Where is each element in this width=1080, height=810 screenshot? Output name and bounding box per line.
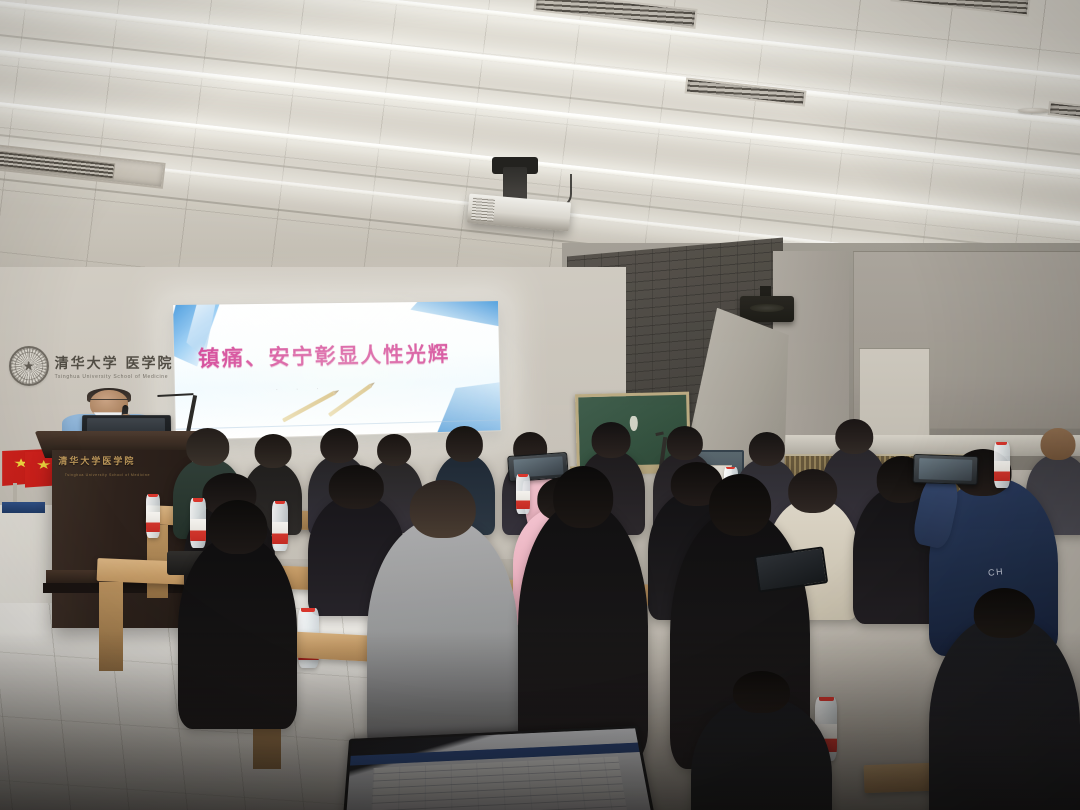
audience-head (749, 432, 785, 466)
audience-head (733, 671, 789, 713)
audience-head (329, 465, 383, 509)
audience-head (410, 480, 477, 538)
audience-head (836, 419, 873, 455)
audience-head (667, 426, 703, 460)
audience-head (377, 434, 411, 466)
audience-head (1041, 428, 1076, 460)
bottle-label (190, 519, 206, 541)
slide-surface: 镇痛、安宁彰显人性光辉 · · · (173, 301, 501, 440)
glasses-icon (90, 399, 128, 404)
slide-subtitle: · · · (275, 382, 468, 394)
tsinghua-logo: 清华大学 医学院 Tsinghua University School of M… (9, 340, 176, 392)
logo-english-name: Tsinghua University School of Medicine (55, 374, 174, 380)
loudspeaker-icon (740, 296, 794, 322)
audience-head (208, 500, 267, 554)
audience-head (186, 428, 230, 465)
audience-head (320, 428, 358, 464)
audience-head (553, 466, 613, 528)
water-bottle-icon (272, 501, 288, 551)
lecture-desk-leg (99, 582, 123, 671)
audience-member (518, 502, 648, 761)
flag-base (2, 502, 45, 513)
slide-graphic-pencil (282, 391, 336, 423)
water-bottle-icon (146, 494, 160, 538)
audience-head (446, 426, 482, 462)
bottle-label (994, 461, 1010, 481)
audience-head (974, 588, 1034, 638)
chalk-mark (629, 416, 637, 432)
tsinghua-seal-icon (9, 346, 49, 386)
star-icon (37, 460, 51, 470)
water-bottle-icon (516, 474, 530, 515)
audience-head (788, 469, 838, 513)
audience-member (178, 535, 297, 729)
logo-text: 清华大学 医学院 Tsinghua University School of M… (55, 353, 174, 380)
logo-chinese-name: 清华大学 医学院 (55, 353, 174, 373)
open-laptop-icon (341, 726, 658, 810)
jacket-lettering: CH (988, 566, 1005, 578)
star-icon (23, 361, 34, 372)
lecture-hall-photo: 镇痛、安宁彰显人性光辉 · · · 清华大学 医学院 Tsinghua Univ… (0, 0, 1080, 810)
bottle-label (272, 522, 288, 544)
bottle-label (516, 491, 530, 509)
smartphone-icon (912, 454, 978, 485)
slide-title: 镇痛、安宁彰显人性光辉 (198, 344, 484, 371)
audience-member-gray-hoodie (367, 518, 518, 761)
audience-head (592, 422, 631, 458)
audience-member (929, 616, 1080, 810)
projection-screen: 镇痛、安宁彰显人性光辉 · · · (172, 300, 502, 441)
audience-head (709, 474, 771, 536)
water-bottle-icon (994, 442, 1010, 487)
bottle-label (146, 512, 160, 531)
podium-plaque-chinese: 清华大学医学院 (58, 454, 170, 472)
water-bottle-icon (190, 498, 206, 548)
audience-head (254, 434, 291, 468)
podium-plaque-english: Tsinghua University School of Medicine (65, 473, 173, 484)
laptop-document (369, 757, 628, 810)
laptop-screen (341, 726, 658, 810)
